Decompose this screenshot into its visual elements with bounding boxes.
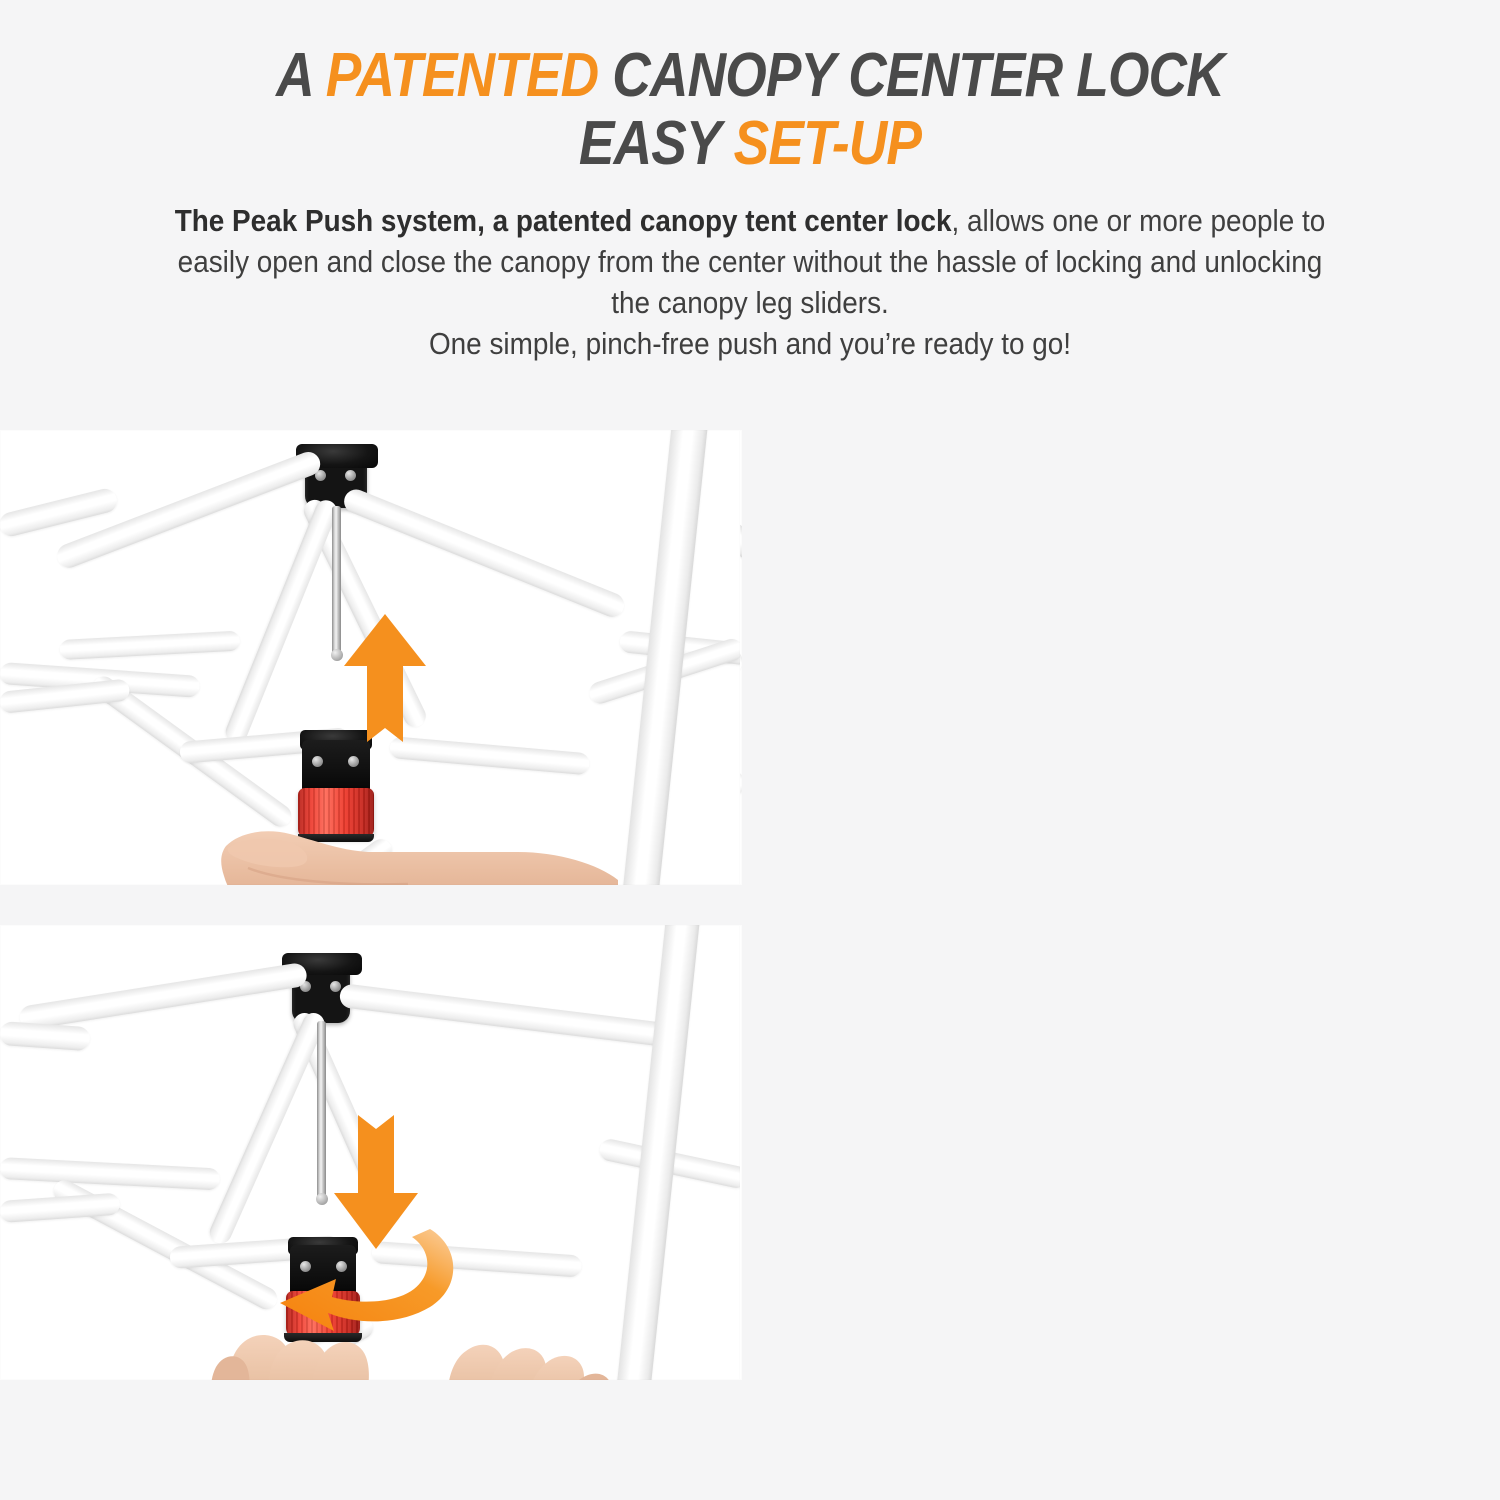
photo-grid bbox=[0, 430, 1500, 1430]
rafter-tube bbox=[18, 962, 308, 1031]
lock-screw bbox=[312, 756, 323, 767]
description-paragraph: The Peak Push system, a patented canopy … bbox=[156, 200, 1344, 364]
rafter-tube bbox=[339, 983, 669, 1047]
push-rod-tip bbox=[316, 1193, 328, 1205]
description-bold-lead: The Peak Push system, a patented canopy … bbox=[175, 203, 952, 238]
push-rod bbox=[317, 1021, 326, 1201]
truss-tube bbox=[0, 1157, 220, 1190]
headline-text-3: EASY bbox=[579, 109, 734, 178]
infographic-page: A PATENTED CANOPY CENTER LOCK EASY SET-U… bbox=[0, 0, 1500, 1500]
open-palm-hand bbox=[218, 808, 618, 885]
hub-screw bbox=[345, 470, 356, 481]
page-title: A PATENTED CANOPY CENTER LOCK EASY SET-U… bbox=[105, 46, 1395, 174]
arrow-up-icon bbox=[340, 610, 430, 760]
truss-tube bbox=[59, 631, 240, 660]
description-last-line: One simple, pinch-free push and you’re r… bbox=[429, 326, 1071, 361]
hub-screw bbox=[330, 981, 341, 992]
headline-text-1: A bbox=[276, 41, 326, 110]
rafter-tube bbox=[0, 1021, 91, 1051]
rafter-tube bbox=[222, 497, 340, 746]
rafter-tube bbox=[341, 486, 628, 621]
arrow-twist-icon bbox=[262, 1221, 472, 1351]
rafter-tube bbox=[206, 1010, 328, 1247]
headline-highlight-setup: SET-UP bbox=[734, 109, 921, 178]
panel-4-twist-release bbox=[0, 925, 740, 1380]
headline-text-2: CANOPY CENTER LOCK bbox=[598, 41, 1224, 110]
headline-highlight-patented: PATENTED bbox=[326, 41, 599, 110]
panel-2-push-up bbox=[0, 430, 740, 885]
